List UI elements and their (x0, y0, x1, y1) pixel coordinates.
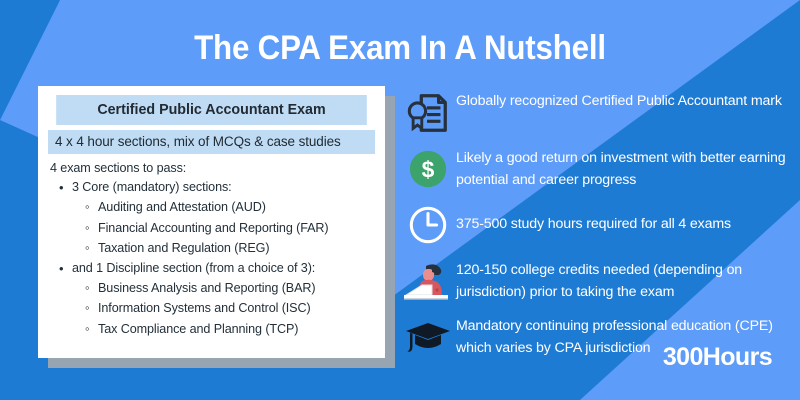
feature-text: 120-150 college credits needed (dependin… (456, 256, 786, 303)
svg-text:$: $ (422, 157, 435, 183)
core-sublist: Auditing and Attestation (AUD) Financial… (72, 197, 375, 259)
group-label-discipline: and 1 Discipline section (from a choice … (72, 261, 315, 275)
feature-item-certification: Globally recognized Certified Public Acc… (400, 88, 790, 138)
list-item-group-discipline: and 1 Discipline section (from a choice … (72, 259, 375, 340)
feature-item-college-credits: 120-150 college credits needed (dependin… (400, 256, 790, 306)
graduation-cap-icon (400, 312, 456, 362)
discipline-sublist: Business Analysis and Reporting (BAR) In… (72, 278, 375, 340)
group-label-core: 3 Core (mandatory) sections: (72, 180, 232, 194)
feature-text: 375-500 study hours required for all 4 e… (456, 200, 731, 235)
list-item: Taxation and Regulation (REG) (98, 238, 375, 259)
list-item: Information Systems and Control (ISC) (98, 298, 375, 319)
card-subtitle: 4 x 4 hour sections, mix of MCQs & case … (48, 130, 375, 154)
feature-list: Globally recognized Certified Public Acc… (400, 88, 790, 368)
feature-text: Globally recognized Certified Public Acc… (456, 88, 782, 112)
feature-item-roi: $ Likely a good return on investment wit… (400, 144, 790, 194)
feature-item-study-hours: 375-500 study hours required for all 4 e… (400, 200, 790, 250)
page-title: The CPA Exam In A Nutshell (32, 28, 768, 68)
person-laptop-icon (400, 256, 456, 306)
brand-logo: 300Hours (663, 343, 772, 372)
list-item-group-core: 3 Core (mandatory) sections: Auditing an… (72, 178, 375, 259)
card-lead-text: 4 exam sections to pass: (48, 161, 375, 175)
feature-text: Likely a good return on investment with … (456, 144, 786, 191)
card-title: Certified Public Accountant Exam (56, 95, 367, 125)
clock-icon (400, 200, 456, 250)
exam-overview-card: Certified Public Accountant Exam 4 x 4 h… (38, 86, 385, 358)
list-item: Financial Accounting and Reporting (FAR) (98, 218, 375, 239)
list-item: Business Analysis and Reporting (BAR) (98, 278, 375, 299)
certificate-icon (400, 88, 456, 138)
infographic-canvas: The CPA Exam In A Nutshell Certified Pub… (0, 0, 800, 400)
list-item: Auditing and Attestation (AUD) (98, 197, 375, 218)
dollar-coin-icon: $ (400, 144, 456, 194)
list-item: Tax Compliance and Planning (TCP) (98, 319, 375, 340)
exam-section-list: 3 Core (mandatory) sections: Auditing an… (48, 178, 375, 339)
